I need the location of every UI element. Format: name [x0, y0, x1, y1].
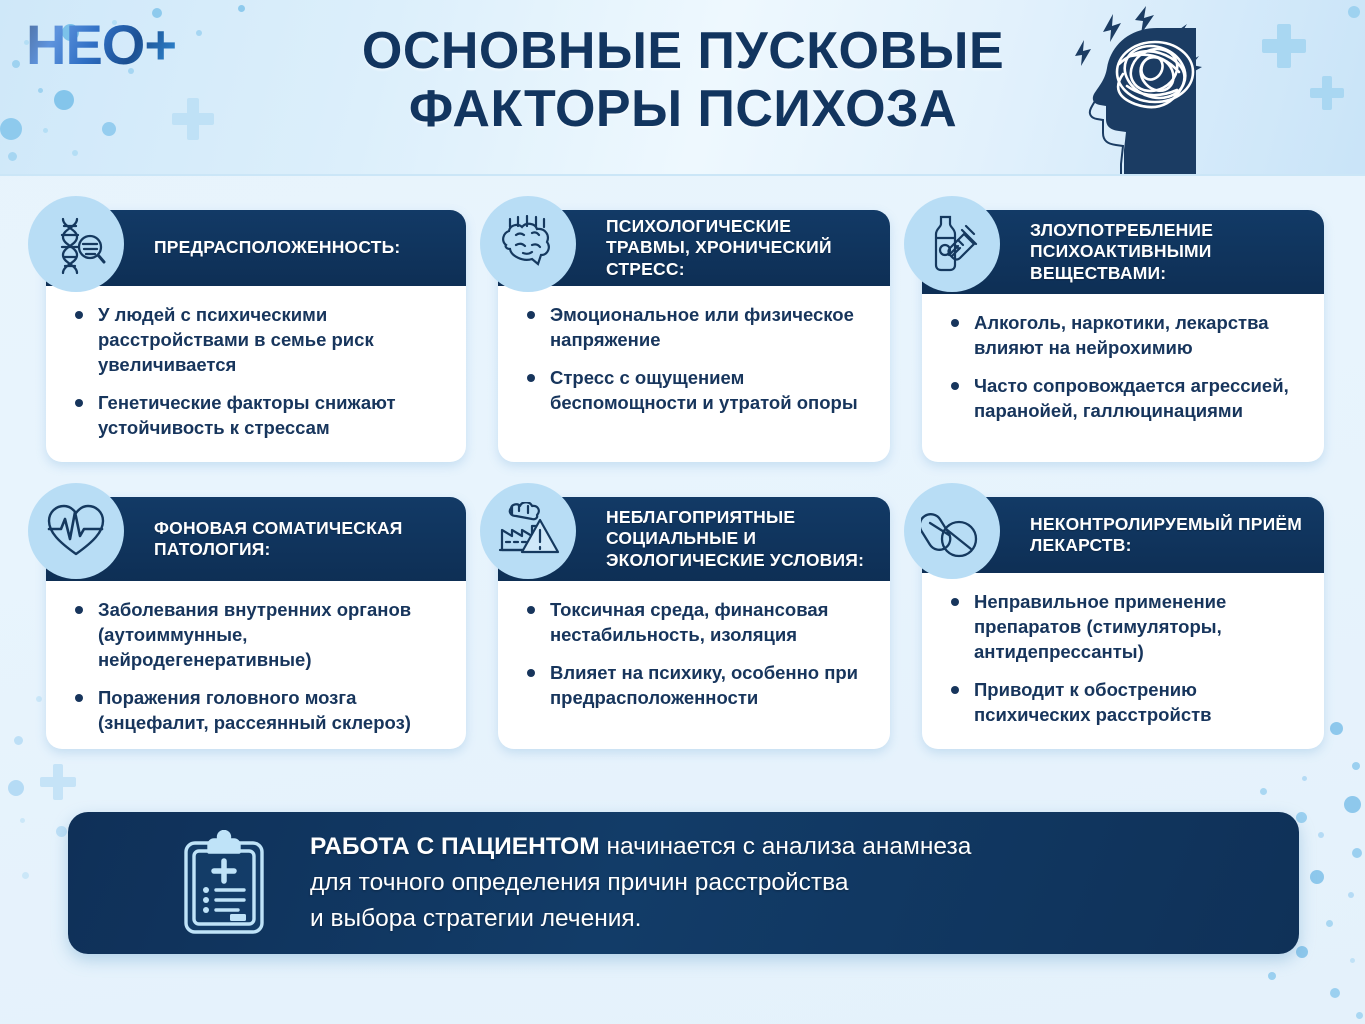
- header: НЕО+ ОСНОВНЫЕ ПУСКОВЫЕ ФАКТОРЫ ПСИХОЗА: [0, 0, 1365, 176]
- factor-card: ПСИХОЛОГИЧЕСКИЕ ТРАВМЫ, ХРОНИЧЕСКИЙ СТРЕ…: [480, 196, 904, 472]
- brand-logo[interactable]: НЕО+: [26, 14, 212, 76]
- summary-line-3: и выбора стратегии лечения.: [310, 901, 971, 937]
- summary-line-2: для точного определения причин расстройс…: [310, 865, 971, 901]
- page-title-line1: ОСНОВНЫЕ ПУСКОВЫЕ: [330, 22, 1036, 80]
- plus-decor-icon: [1262, 24, 1306, 68]
- summary-lead: РАБОТА С ПАЦИЕНТОМ: [310, 833, 600, 860]
- list-item: Приводит к обострению психических расстр…: [948, 677, 1304, 727]
- list-item: Заболевания внутренних органов (аутоимму…: [72, 597, 446, 672]
- stressed-brain-icon: [480, 196, 576, 292]
- factor-card: НЕБЛАГОПРИЯТНЫЕ СОЦИАЛЬНЫЕ И ЭКОЛОГИЧЕСК…: [480, 483, 904, 759]
- summary-lead-rest: начинается с анализа анамнеза: [600, 833, 972, 860]
- list-item: Влияет на психику, особенно при предрасп…: [524, 660, 870, 710]
- factor-card: ФОНОВАЯ СОМАТИЧЕСКАЯ ПАТОЛОГИЯ: Заболева…: [28, 483, 480, 759]
- summary-text: РАБОТА С ПАЦИЕНТОМ начинается с анализа …: [310, 829, 971, 937]
- pills-icon: [904, 483, 1000, 579]
- list-item: Поражения головного мозга (знцефалит, ра…: [72, 685, 446, 735]
- list-item: Алкоголь, наркотики, лекарства влияют на…: [948, 310, 1304, 360]
- factor-card: ЗЛОУПОТРЕБЛЕНИЕ ПСИХОАКТИВНЫМИ ВЕЩЕСТВАМ…: [904, 196, 1338, 472]
- summary-line-1: РАБОТА С ПАЦИЕНТОМ начинается с анализа …: [310, 829, 971, 865]
- bottle-syringe-icon: [904, 196, 1000, 292]
- factor-card: ПРЕДРАСПОЛОЖЕННОСТЬ: У людей с психическ…: [28, 196, 480, 472]
- list-item: Токсичная среда, финансовая нестабильнос…: [524, 597, 870, 647]
- factor-card-grid: ПРЕДРАСПОЛОЖЕННОСТЬ: У людей с психическ…: [28, 196, 1338, 759]
- infographic-page: НЕО+ ОСНОВНЫЕ ПУСКОВЫЕ ФАКТОРЫ ПСИХОЗА: [0, 0, 1365, 1024]
- plus-decor-icon: [172, 98, 214, 140]
- list-item: Неправильное применение препаратов (стим…: [948, 589, 1304, 664]
- plus-decor-icon: [40, 764, 76, 800]
- list-item: Стресс с ощущением беспомощности и утрат…: [524, 365, 870, 415]
- clipboard-medical-icon: [180, 830, 268, 936]
- list-item: Эмоциональное или физическое напряжение: [524, 302, 870, 352]
- factor-card: НЕКОНТРОЛИРУЕМЫЙ ПРИЁМ ЛЕКАРСТВ: Неправи…: [904, 483, 1338, 759]
- dna-magnifier-icon: [28, 196, 124, 292]
- page-title: ОСНОВНЫЕ ПУСКОВЫЕ ФАКТОРЫ ПСИХОЗА: [330, 22, 1036, 138]
- list-item: Генетические факторы снижают устойчивост…: [72, 390, 446, 440]
- heart-pulse-icon: [28, 483, 124, 579]
- head-tangled-brain-lightning-icon: [1057, 6, 1237, 176]
- factory-warning-icon: [480, 483, 576, 579]
- summary-banner: РАБОТА С ПАЦИЕНТОМ начинается с анализа …: [68, 812, 1299, 954]
- page-title-line2: ФАКТОРЫ ПСИХОЗА: [330, 80, 1036, 138]
- list-item: Часто сопровождается агрессией, паранойе…: [948, 373, 1304, 423]
- plus-decor-icon: [1310, 76, 1344, 110]
- list-item: У людей с психическими расстройствами в …: [72, 302, 446, 377]
